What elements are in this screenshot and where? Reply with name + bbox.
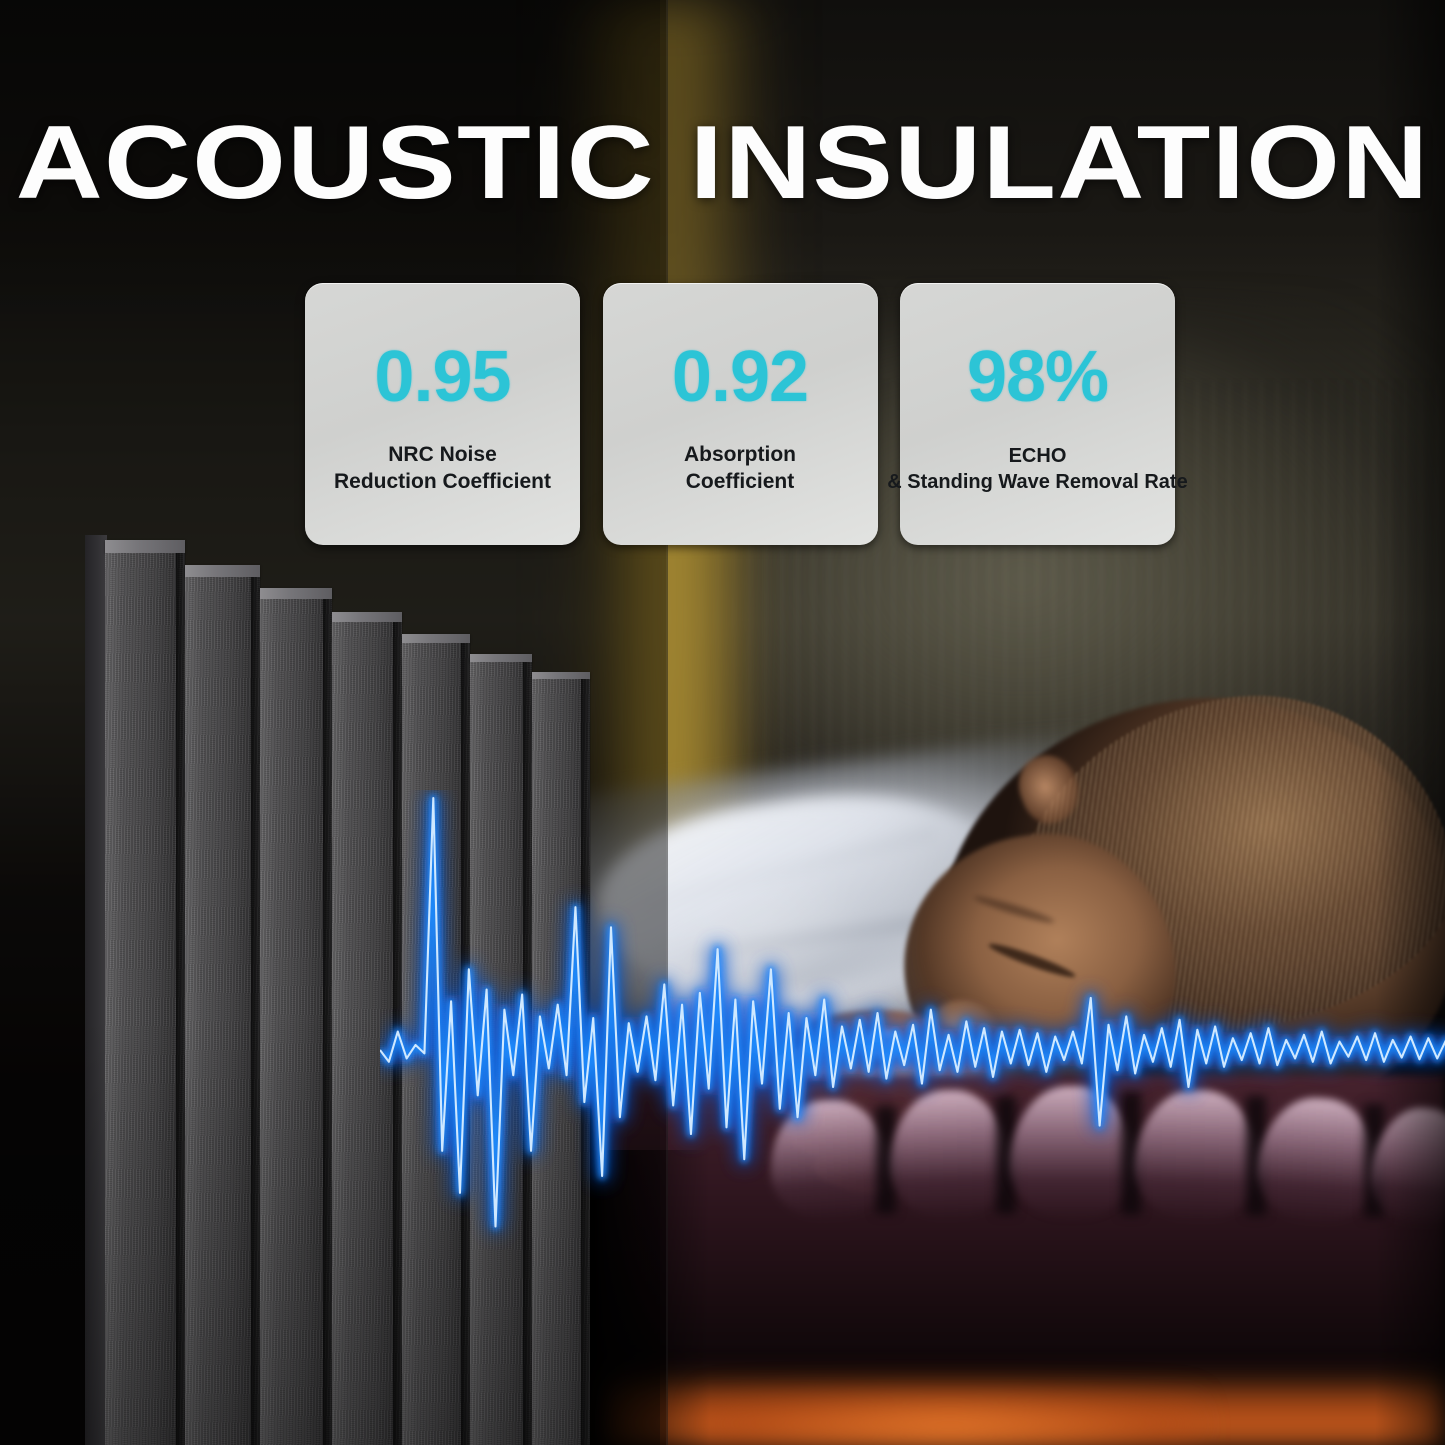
product-marketing-image: ACOUSTIC INSULATION 0.95 NRC Noise Reduc… [0,0,1445,1445]
stat-value: 0.92 [672,341,808,413]
foam-slat [332,622,402,1445]
foam-slat-top [260,588,332,599]
foam-slat-top [332,612,402,622]
stat-card-nrc[interactable]: 0.95 NRC Noise Reduction Coefficient [305,283,580,545]
foam-slat [260,599,332,1445]
foam-slat-top [105,540,185,553]
foam-slat-top [532,672,590,679]
foam-slat-top [185,565,260,577]
stat-card-absorption[interactable]: 0.92 Absorption Coefficient [603,283,878,545]
panel-side-face [85,535,107,1445]
foam-slat [185,577,260,1445]
stat-card-echo[interactable]: 98% ECHO & Standing Wave Removal Rate [900,283,1175,545]
stat-value: 98% [967,341,1108,413]
foam-slat [402,643,470,1445]
warm-bed-glow-core [700,1390,1200,1445]
pillow-ridge [1010,1086,1135,1221]
stat-cards: 0.95 NRC Noise Reduction Coefficient 0.9… [305,283,1175,545]
foam-slat [105,553,185,1445]
baby-fingernail [862,1030,904,1058]
stat-label: NRC Noise Reduction Coefficient [289,441,596,496]
page-title: ACOUSTIC INSULATION [0,104,1445,223]
foam-slat-top [402,634,470,643]
stat-value: 0.95 [374,341,510,413]
stat-label: Absorption Coefficient [587,441,894,496]
foam-slat-top [470,654,532,662]
foam-slat-groove [581,679,591,1445]
stat-label: ECHO & Standing Wave Removal Rate [884,443,1191,495]
